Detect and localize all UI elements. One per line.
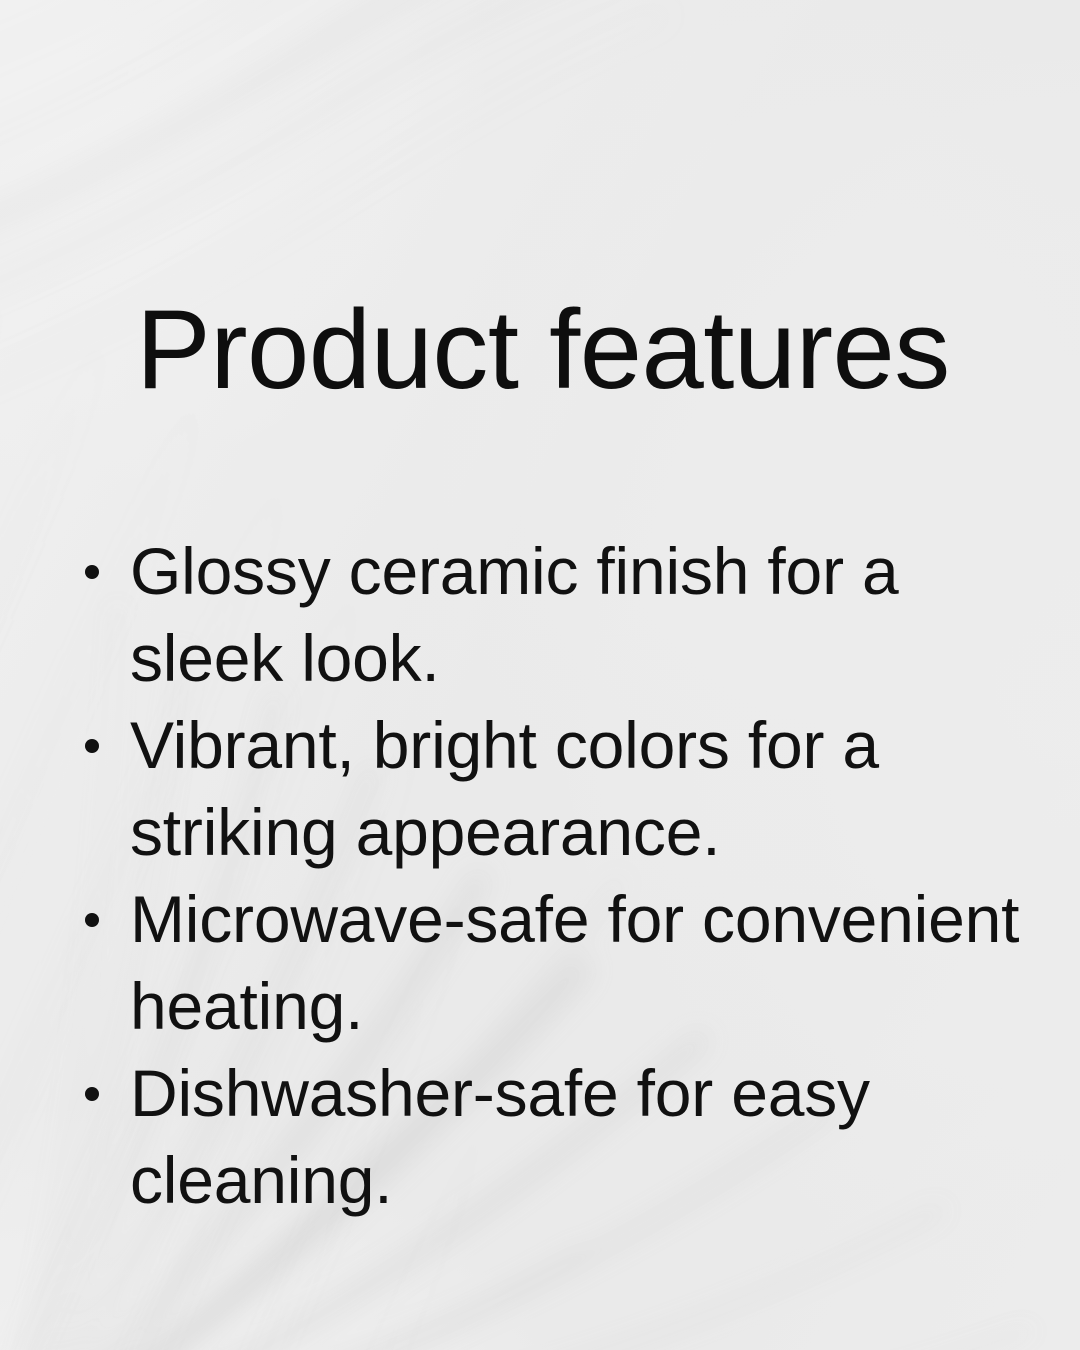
bullet-icon	[85, 913, 99, 927]
list-item-label: Vibrant, bright colors for a striking ap…	[130, 708, 879, 869]
page-title: Product features	[136, 291, 950, 409]
list-item: Vibrant, bright colors for a striking ap…	[78, 702, 1058, 876]
bullet-icon	[85, 739, 99, 753]
list-item: Microwave-safe for convenient heating.	[78, 876, 1058, 1050]
list-item-label: Glossy ceramic finish for a sleek look.	[130, 534, 899, 695]
list-item: Glossy ceramic finish for a sleek look.	[78, 528, 1058, 702]
product-features-card: Product features Glossy ceramic finish f…	[0, 0, 1080, 1350]
card-content: Product features Glossy ceramic finish f…	[0, 0, 1080, 1350]
list-item-label: Microwave-safe for convenient heating.	[130, 882, 1019, 1043]
list-item-label: Dishwasher-safe for easy cleaning.	[130, 1056, 870, 1217]
bullet-icon	[85, 1087, 99, 1101]
bullet-icon	[85, 565, 99, 579]
list-item: Dishwasher-safe for easy cleaning.	[78, 1050, 1058, 1224]
feature-list: Glossy ceramic finish for a sleek look. …	[78, 528, 1058, 1224]
